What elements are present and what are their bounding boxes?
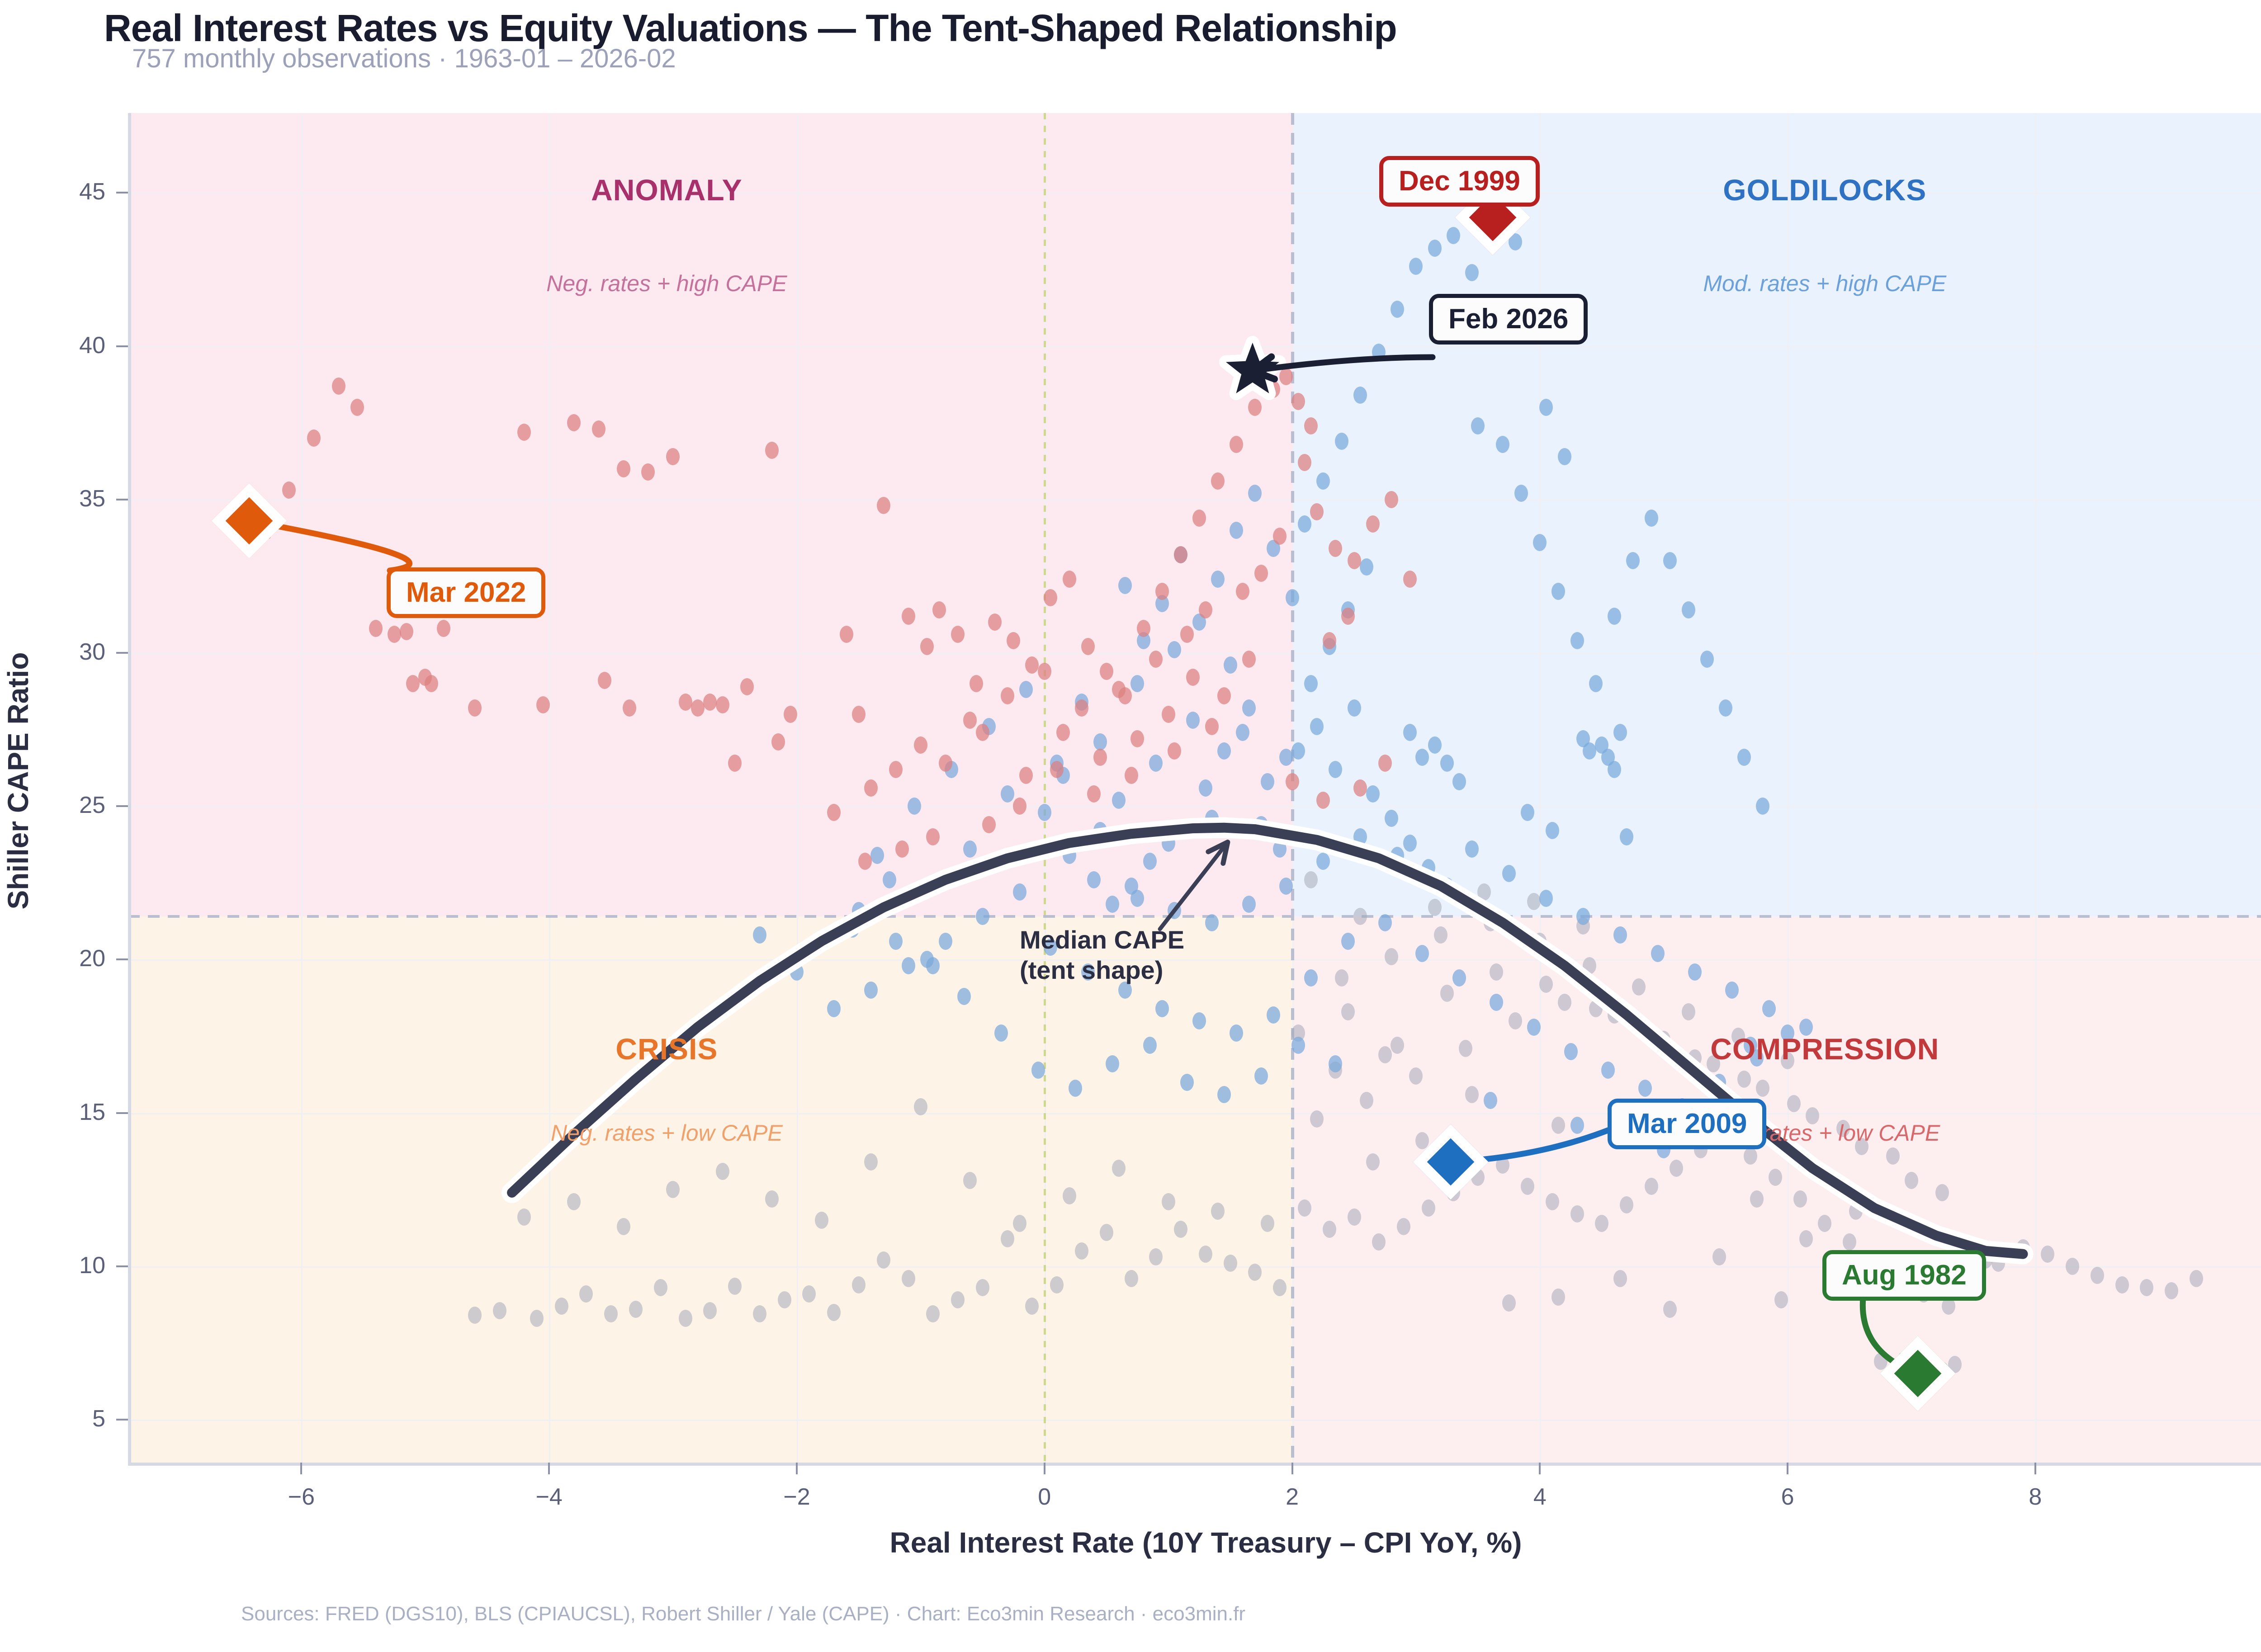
y-tick-label: 5 [15, 1405, 105, 1432]
x-tick [1787, 1463, 1788, 1474]
median-cape-line1: Median CAPE [1020, 925, 1184, 955]
y-tick-label: 35 [15, 485, 105, 512]
y-tick-label: 20 [15, 945, 105, 972]
annotation-label-feb2026[interactable]: Feb 2026 [1429, 294, 1588, 345]
y-tick-label: 10 [15, 1252, 105, 1279]
y-tick [116, 1112, 128, 1114]
chart-root: Real Interest Rates vs Equity Valuations… [0, 0, 2261, 1652]
y-axis-line [128, 113, 131, 1463]
y-axis-title: Shiller CAPE Ratio [1, 419, 35, 1142]
median-cape-line2: (tent shape) [1020, 955, 1184, 985]
y-tick-label: 25 [15, 792, 105, 819]
x-tick-label: −6 [256, 1483, 346, 1510]
x-tick [1044, 1463, 1045, 1474]
x-tick-label: 10 [2238, 1483, 2261, 1510]
x-tick [2034, 1463, 2036, 1474]
y-tick [116, 345, 128, 347]
annotation-label-dec1999[interactable]: Dec 1999 [1379, 156, 1540, 207]
x-tick [1291, 1463, 1293, 1474]
y-tick-label: 15 [15, 1099, 105, 1126]
y-tick [116, 958, 128, 960]
quadrant-label-crisis: CRISIS [463, 1032, 870, 1066]
x-tick-label: 0 [999, 1483, 1090, 1510]
annotation-label-mar2022[interactable]: Mar 2022 [387, 567, 545, 618]
chart-subtitle: 757 monthly observations · 1963-01 – 202… [132, 43, 676, 74]
y-tick-label: 30 [15, 638, 105, 666]
y-tick-label: 40 [15, 332, 105, 359]
x-tick-label: 4 [1495, 1483, 1585, 1510]
x-tick [796, 1463, 798, 1474]
annotation-label-aug1982[interactable]: Aug 1982 [1822, 1250, 1986, 1301]
y-tick [116, 1265, 128, 1267]
x-tick [1539, 1463, 1541, 1474]
annotation-label-mar2009[interactable]: Mar 2009 [1608, 1099, 1766, 1149]
annotation-label-median-cape: Median CAPE(tent shape) [1020, 925, 1184, 985]
quadrant-sublabel-anomaly: Neg. rates + high CAPE [463, 270, 870, 297]
quadrant-label-anomaly: ANOMALY [463, 173, 870, 207]
x-tick-label: 8 [1990, 1483, 2081, 1510]
x-tick [548, 1463, 550, 1474]
chart-footer: Sources: FRED (DGS10), BLS (CPIAUCSL), R… [241, 1603, 1245, 1625]
y-tick [116, 499, 128, 500]
x-tick [300, 1463, 302, 1474]
quadrant-sublabel-goldilocks: Mod. rates + high CAPE [1621, 270, 2028, 297]
x-axis-title: Real Interest Rate (10Y Treasury – CPI Y… [0, 1526, 2261, 1559]
y-tick-label: 45 [15, 178, 105, 205]
x-tick-label: 6 [1742, 1483, 1833, 1510]
quadrant-sublabel-crisis: Neg. rates + low CAPE [463, 1120, 870, 1146]
quadrant-label-goldilocks: GOLDILOCKS [1621, 173, 2028, 207]
y-tick [116, 652, 128, 654]
y-tick [116, 192, 128, 194]
y-tick [116, 805, 128, 807]
x-tick-label: 2 [1247, 1483, 1338, 1510]
x-tick-label: −2 [752, 1483, 842, 1510]
quadrant-label-compression: COMPRESSION [1621, 1032, 2028, 1066]
x-axis-line [128, 1463, 2261, 1466]
y-tick [116, 1419, 128, 1421]
x-tick-label: −4 [504, 1483, 594, 1510]
